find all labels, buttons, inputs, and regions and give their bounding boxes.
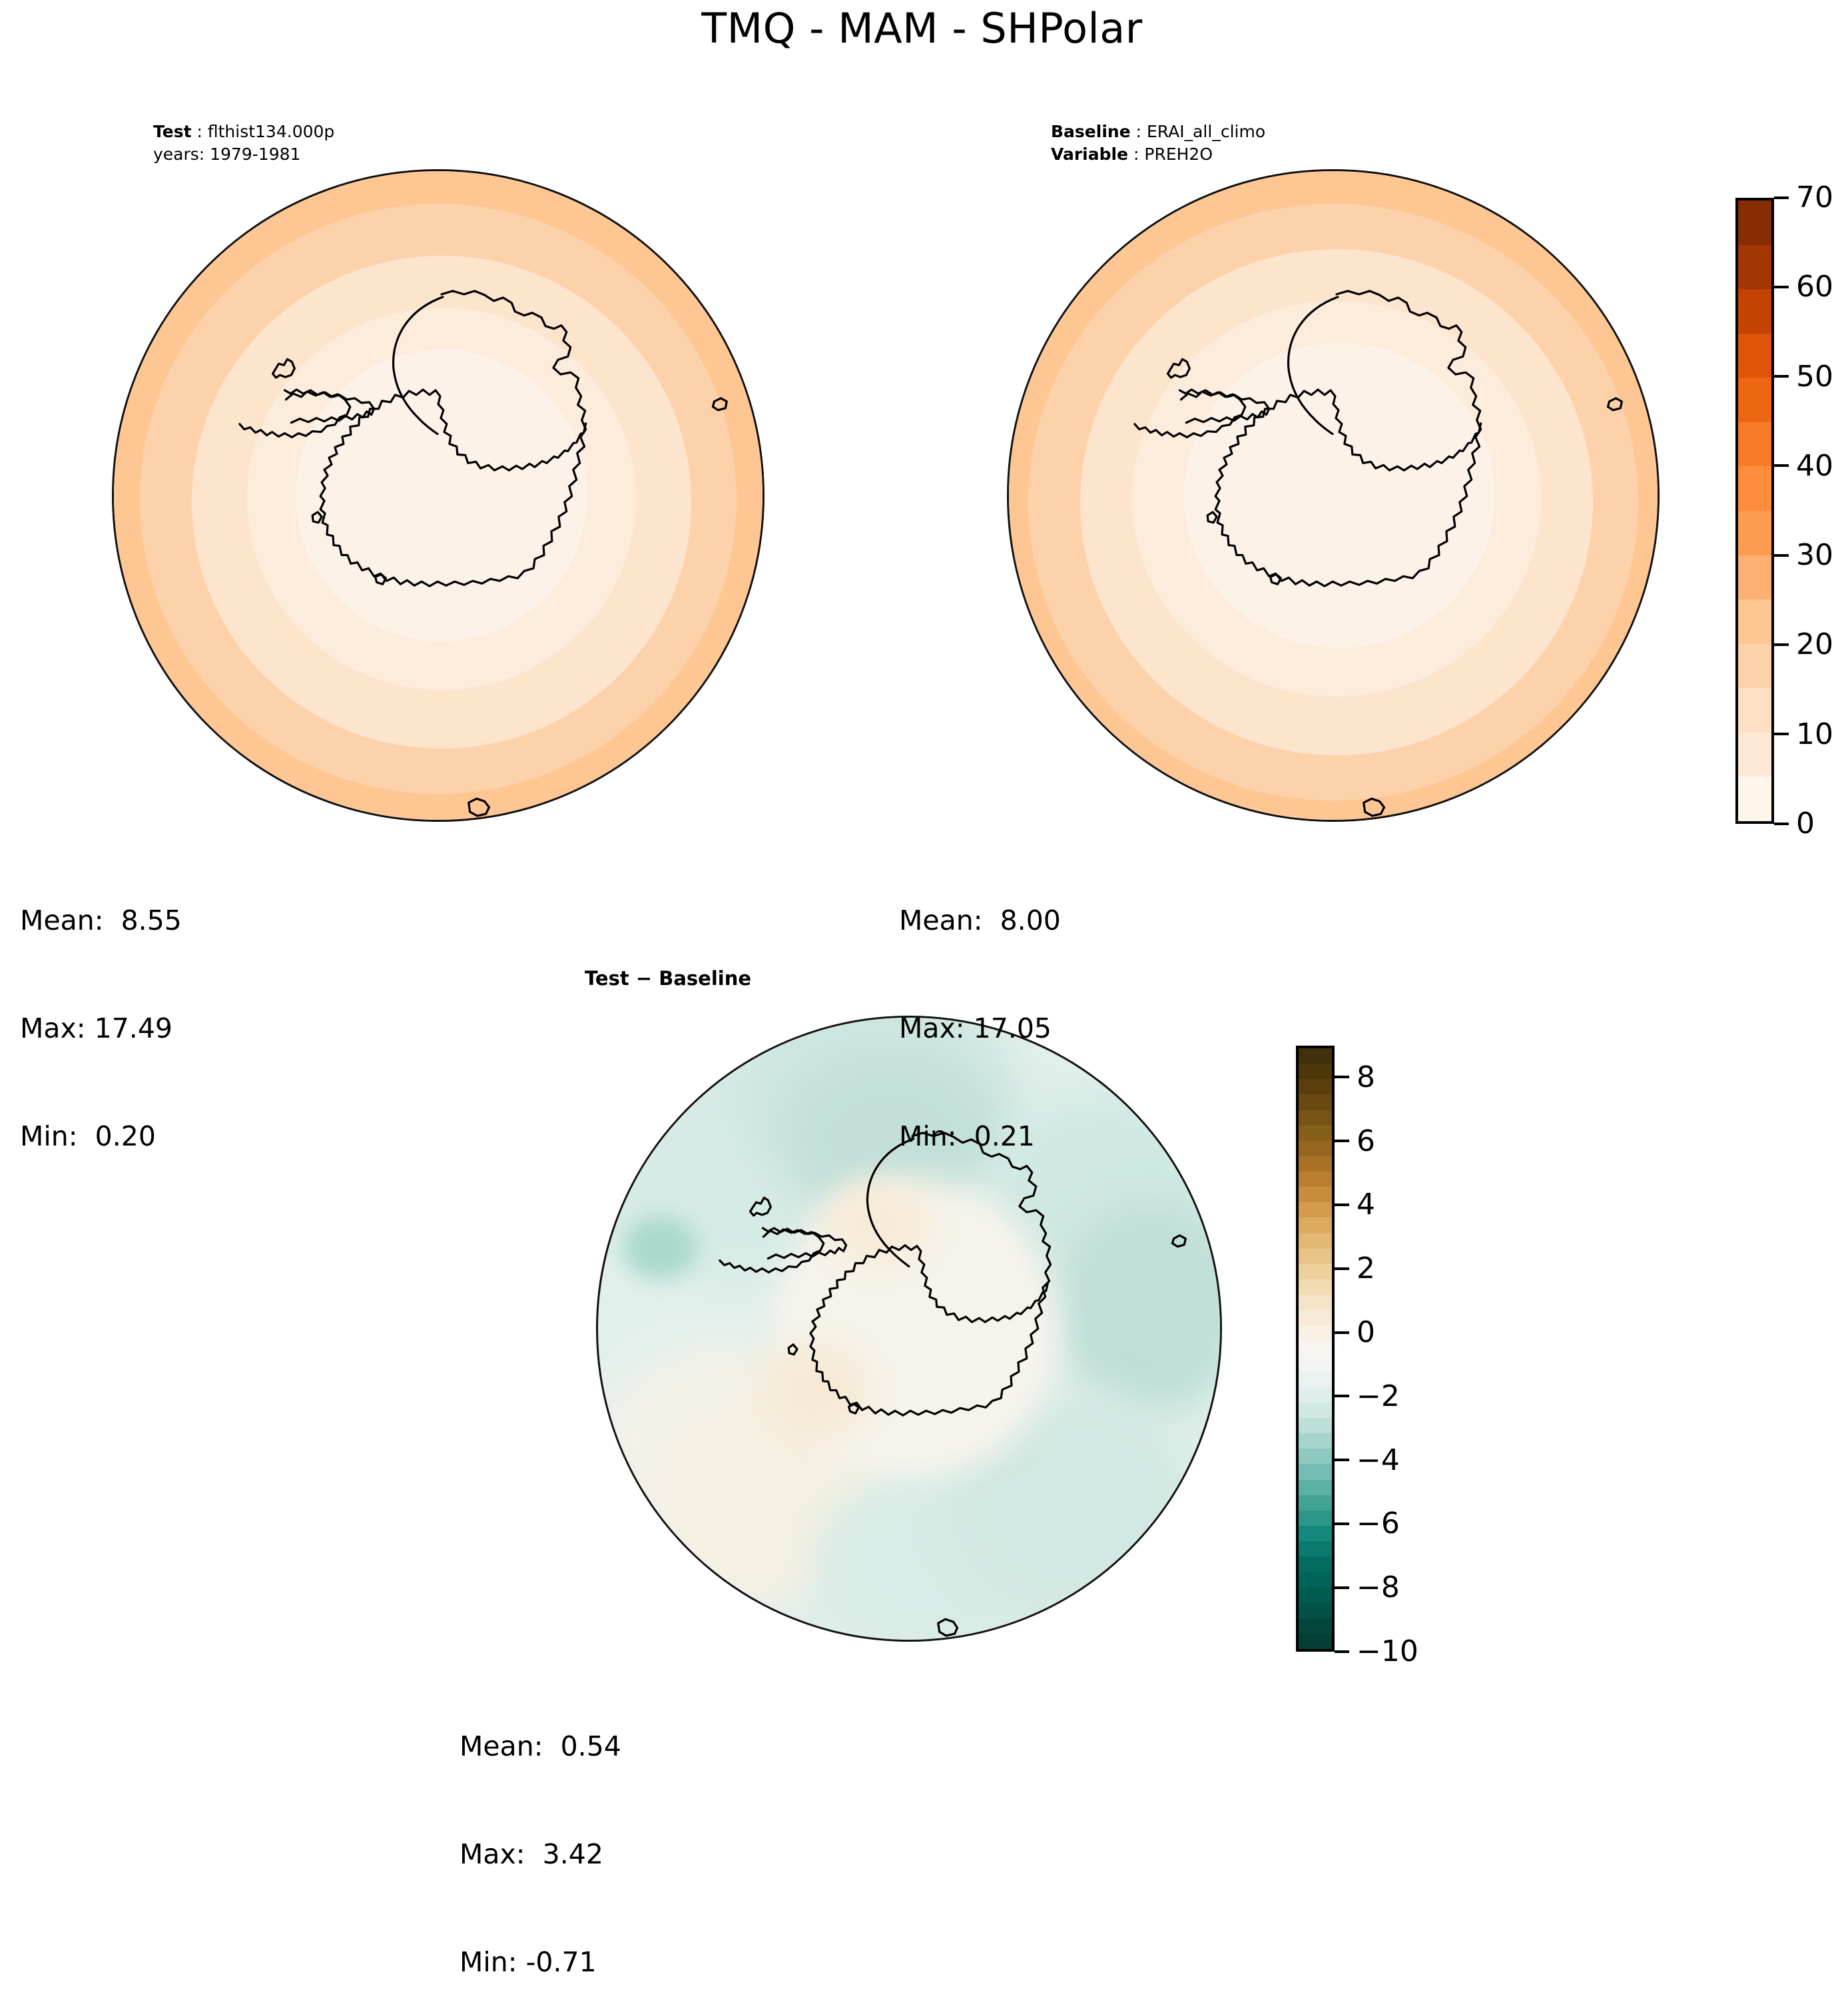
colorbar-band <box>1299 1202 1332 1217</box>
colorbar-band <box>1738 422 1771 467</box>
colorbar-band <box>1299 1249 1332 1264</box>
colorbar-band <box>1299 1495 1332 1511</box>
test-min: Min: 0.20 <box>20 1118 182 1154</box>
baseline-header-value: ERAI_all_climo <box>1147 122 1265 141</box>
colorbar-band <box>1299 1217 1332 1233</box>
test-globe <box>112 169 765 822</box>
colorbar-tick-label: 0 <box>1357 1315 1375 1349</box>
difference-min: Min: -0.71 <box>460 1944 621 1980</box>
colorbar-tick: 20 <box>1774 627 1833 661</box>
baseline-header-line2: Variable : PREH2O <box>1051 143 1265 166</box>
colorbar-band <box>1299 1079 1332 1094</box>
colorbar-band <box>1299 1141 1332 1156</box>
colorbar-tick: 4 <box>1335 1187 1375 1221</box>
baseline-min: Min: 0.21 <box>899 1118 1061 1154</box>
colorbar-band <box>1299 1187 1332 1202</box>
colorbar-tick-label: 6 <box>1357 1124 1375 1158</box>
difference-stats: Mean: 0.54 Max: 3.42 Min: -0.71 <box>460 1656 621 2016</box>
baseline-globe <box>1007 169 1660 822</box>
difference-max: Max: 3.42 <box>460 1836 621 1872</box>
colorbar-tick-label: −10 <box>1357 1634 1418 1668</box>
diff-blob-brown-2 <box>760 1341 872 1441</box>
colorbar-band <box>1299 1094 1332 1110</box>
colorbar-tick-label: −2 <box>1357 1379 1400 1413</box>
colorbar-band <box>1299 1418 1332 1433</box>
colorbar-brbg[interactable] <box>1296 1046 1335 1652</box>
colorbar-band <box>1299 1310 1332 1325</box>
colorbar-tick-mark <box>1335 1395 1349 1397</box>
colorbar-band <box>1738 733 1771 777</box>
colorbar-tick-mark <box>1774 196 1789 199</box>
colorbar-band <box>1299 1511 1332 1526</box>
colorbar-tick-mark <box>1335 1203 1349 1206</box>
colorbar-band <box>1738 777 1771 821</box>
colorbar-tick: −10 <box>1335 1634 1418 1668</box>
colorbar-tick: 8 <box>1335 1060 1375 1094</box>
test-header-years: years: 1979-1981 <box>153 143 334 166</box>
colorbar-tick: 60 <box>1774 270 1833 304</box>
colorbar-tick: −6 <box>1335 1507 1400 1540</box>
colorbar-tick: 50 <box>1774 360 1833 394</box>
colorbar-tick: −4 <box>1335 1443 1400 1477</box>
colorbar-tick-label: 8 <box>1357 1060 1375 1094</box>
colorbar-tick: 0 <box>1774 807 1815 840</box>
colorbar-tick: −8 <box>1335 1570 1400 1604</box>
colorbar-tick-mark <box>1774 464 1789 467</box>
colorbar-band <box>1299 1480 1332 1495</box>
colorbar-band <box>1299 1603 1332 1618</box>
colorbar-tick-label: 4 <box>1357 1187 1375 1221</box>
baseline-header-line1: Baseline : ERAI_all_climo <box>1051 121 1265 143</box>
colorbar-tick-label: −6 <box>1357 1507 1400 1540</box>
contour-ring-5 <box>296 350 587 641</box>
colorbar-oranges-ticks: 706050403020100 <box>1774 198 1844 824</box>
colorbar-tick-label: 2 <box>1357 1251 1375 1285</box>
colorbar-band <box>1299 1279 1332 1295</box>
test-stats: Mean: 8.55 Max: 17.49 Min: 0.20 <box>20 831 182 1190</box>
colorbar-tick: 0 <box>1335 1315 1375 1349</box>
colorbar-band <box>1299 1587 1332 1602</box>
colorbar-band <box>1299 1464 1332 1479</box>
colorbar-band <box>1299 1048 1332 1064</box>
colorbar-band <box>1299 1618 1332 1634</box>
colorbar-tick-label: 70 <box>1796 180 1833 214</box>
colorbar-band <box>1299 1541 1332 1556</box>
test-header-value: flthist134.000p <box>208 122 334 141</box>
colorbar-tick-label: 40 <box>1796 449 1833 483</box>
colorbar-band <box>1299 1110 1332 1126</box>
colorbar-band <box>1299 1572 1332 1587</box>
colorbar-band <box>1299 1341 1332 1356</box>
colorbar-tick-mark <box>1335 1140 1349 1142</box>
colorbar-band <box>1738 644 1771 689</box>
test-header-label: Test <box>153 122 192 141</box>
colorbar-band <box>1299 1126 1332 1141</box>
colorbar-tick-mark <box>1774 375 1789 378</box>
colorbar-tick: −2 <box>1335 1379 1400 1413</box>
colorbar-band <box>1738 200 1771 245</box>
colorbar-tick-mark <box>1335 1650 1349 1653</box>
colorbar-band <box>1299 1634 1332 1649</box>
colorbar-band <box>1299 1325 1332 1341</box>
colorbar-tick: 40 <box>1774 449 1833 483</box>
colorbar-oranges[interactable] <box>1735 198 1774 824</box>
colorbar-tick-mark <box>1774 554 1789 557</box>
colorbar-band <box>1299 1433 1332 1449</box>
variable-separator: : <box>1128 145 1144 164</box>
diff-blob-brown <box>822 1179 934 1267</box>
baseline-map-panel <box>1007 169 1660 822</box>
colorbar-band <box>1299 1372 1332 1387</box>
colorbar-tick-mark <box>1335 1459 1349 1461</box>
colorbar-band <box>1738 466 1771 511</box>
variable-label: Variable <box>1051 145 1128 164</box>
colorbar-tick-mark <box>1335 1331 1349 1334</box>
colorbar-band <box>1299 1064 1332 1079</box>
baseline-header-label: Baseline <box>1051 122 1131 141</box>
colorbar-tick-label: 10 <box>1796 717 1833 751</box>
test-header: Test : flthist134.000p years: 1979-1981 <box>153 121 334 166</box>
colorbar-tick: 6 <box>1335 1124 1375 1158</box>
colorbar-tick-label: 0 <box>1796 807 1815 840</box>
variable-value: PREH2O <box>1144 145 1213 164</box>
colorbar-tick-mark <box>1335 1076 1349 1078</box>
difference-mean: Mean: 0.54 <box>460 1728 621 1764</box>
test-max: Max: 17.49 <box>20 1010 182 1046</box>
colorbar-band <box>1738 688 1771 733</box>
colorbar-band <box>1299 1156 1332 1172</box>
colorbar-tick-mark <box>1335 1586 1349 1589</box>
colorbar-tick-mark <box>1335 1522 1349 1525</box>
colorbar-tick-mark <box>1774 286 1789 288</box>
colorbar-band <box>1738 378 1771 422</box>
baseline-header-separator: : <box>1131 122 1147 141</box>
colorbar-band <box>1738 334 1771 378</box>
colorbar-tick-mark <box>1774 733 1789 735</box>
colorbar-tick-mark <box>1335 1267 1349 1270</box>
colorbar-band <box>1299 1526 1332 1541</box>
colorbar-band <box>1299 1264 1332 1279</box>
baseline-max: Max: 17.05 <box>899 1010 1061 1046</box>
test-mean: Mean: 8.55 <box>20 902 182 938</box>
colorbar-band <box>1738 245 1771 290</box>
colorbar-tick-label: 50 <box>1796 360 1833 394</box>
colorbar-band <box>1299 1172 1332 1187</box>
colorbar-band <box>1299 1449 1332 1464</box>
colorbar-tick: 70 <box>1774 180 1833 214</box>
test-map-panel <box>112 169 765 822</box>
colorbar-band <box>1299 1387 1332 1403</box>
colorbar-band <box>1299 1357 1332 1372</box>
colorbar-band <box>1299 1556 1332 1572</box>
colorbar-band <box>1299 1295 1332 1310</box>
baseline-mean: Mean: 8.00 <box>899 902 1061 938</box>
colorbar-tick-label: 20 <box>1796 627 1833 661</box>
colorbar-band <box>1738 555 1771 600</box>
colorbar-tick: 10 <box>1774 717 1833 751</box>
colorbar-tick-label: −8 <box>1357 1570 1400 1604</box>
colorbar-band <box>1738 511 1771 555</box>
colorbar-band <box>1738 599 1771 644</box>
colorbar-tick: 30 <box>1774 538 1833 572</box>
test-header-line1: Test : flthist134.000p <box>153 121 334 143</box>
colorbar-band <box>1299 1233 1332 1249</box>
colorbar-band <box>1299 1403 1332 1418</box>
colorbar-tick-label: 60 <box>1796 270 1833 304</box>
difference-panel-label: Test − Baseline <box>585 967 751 990</box>
baseline-header: Baseline : ERAI_all_climo Variable : PRE… <box>1051 121 1265 166</box>
colorbar-brbg-ticks: 86420−2−4−6−8−10 <box>1335 1046 1468 1652</box>
contour-ring-5 <box>1184 343 1496 648</box>
diff-blob-teal-spot <box>623 1217 697 1279</box>
colorbar-tick-mark <box>1774 823 1789 825</box>
baseline-stats: Mean: 8.00 Max: 17.05 Min: 0.21 <box>899 831 1061 1190</box>
figure-title: TMQ - MAM - SHPolar <box>0 4 1844 53</box>
test-header-separator: : <box>192 122 208 141</box>
colorbar-tick-label: −4 <box>1357 1443 1400 1477</box>
colorbar-band <box>1738 289 1771 334</box>
colorbar-tick: 2 <box>1335 1251 1375 1285</box>
colorbar-tick-label: 30 <box>1796 538 1833 572</box>
colorbar-tick-mark <box>1774 643 1789 646</box>
